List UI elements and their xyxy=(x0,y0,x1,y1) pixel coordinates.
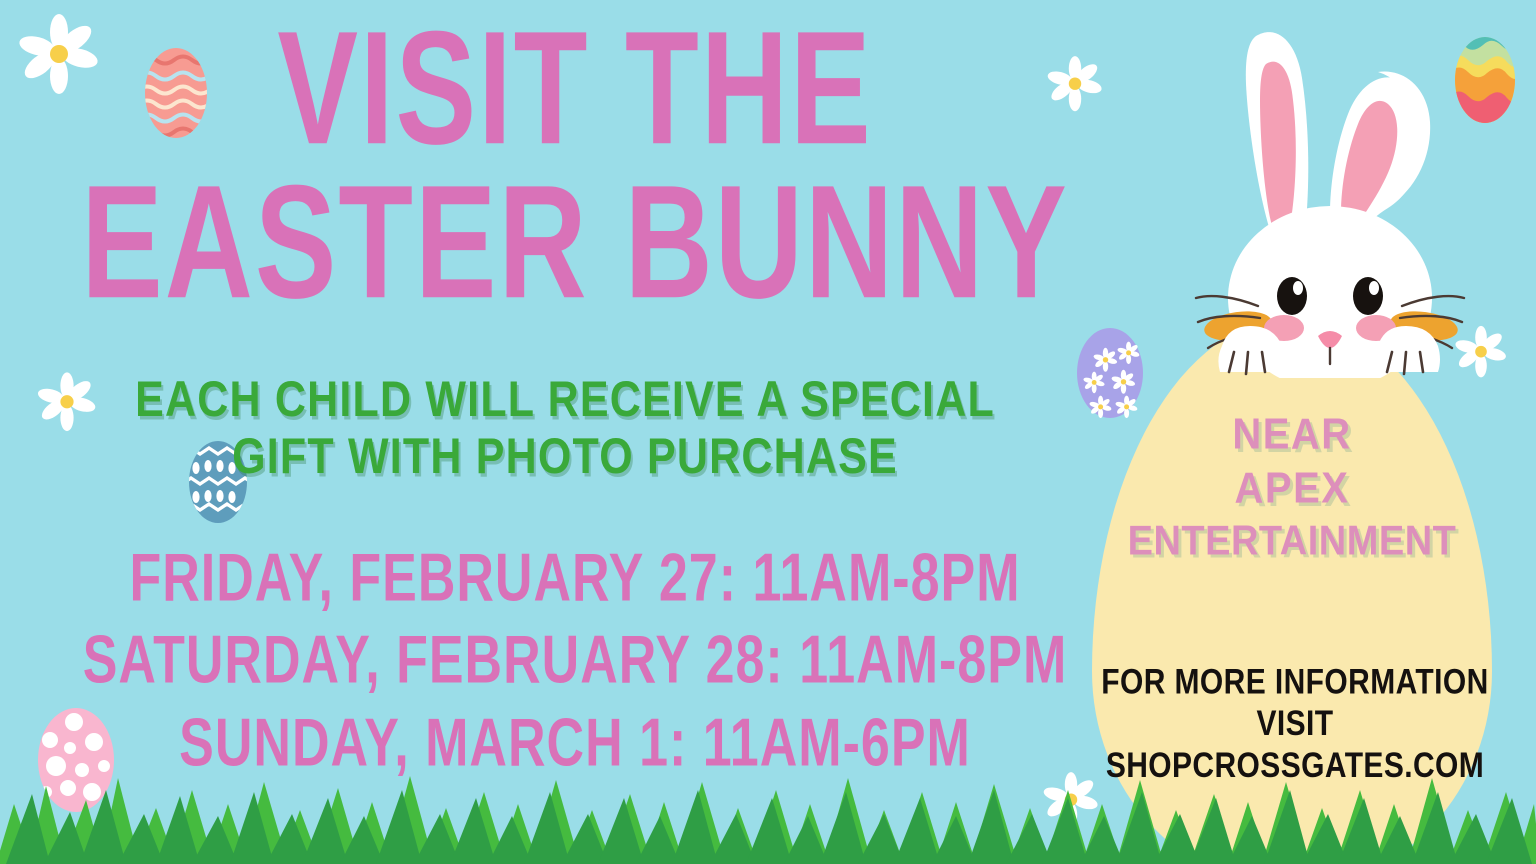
schedule-line-friday: FRIDAY, FEBRUARY 27: 11AM-8PM xyxy=(0,538,1150,620)
footer-line-1: FOR MORE INFORMATION xyxy=(1090,662,1500,704)
grass-border xyxy=(0,764,1536,864)
easter-bunny-poster: VISIT THE EASTER BUNNY EACH CHILD WILL R… xyxy=(0,0,1536,864)
subtitle-line-1: EACH CHILD WILL RECEIVE A SPECIAL xyxy=(135,372,995,428)
schedule-line-saturday: SATURDAY, FEBRUARY 28: 11AM-8PM xyxy=(0,620,1150,702)
daisy-flower-icon xyxy=(1452,322,1510,380)
schedule-list: FRIDAY, FEBRUARY 27: 11AM-8PM SATURDAY, … xyxy=(0,538,1150,785)
location-heading: NEAR APEX ENTERTAINMENT xyxy=(1092,408,1492,566)
bunny-ear-right xyxy=(1330,71,1430,254)
headline-line-2: EASTER BUNNY xyxy=(17,168,1133,316)
location-line-2: APEX xyxy=(1092,462,1492,516)
easter-bunny-illustration xyxy=(1180,8,1480,378)
location-line-3: ENTERTAINMENT xyxy=(1092,515,1492,566)
location-line-1: NEAR xyxy=(1092,408,1492,462)
page-title: VISIT THE EASTER BUNNY xyxy=(0,14,1150,284)
bunny-cheek-right xyxy=(1356,315,1396,341)
subtitle-line-2: GIFT WITH PHOTO PURCHASE xyxy=(232,429,898,485)
offer-subtitle: EACH CHILD WILL RECEIVE A SPECIAL GIFT W… xyxy=(0,372,1130,486)
bunny-accent-right xyxy=(1388,307,1459,344)
bunny-ear-left xyxy=(1246,32,1308,259)
decorative-egg-rainbow-bands xyxy=(1448,28,1522,128)
headline-line-1: VISIT THE xyxy=(23,14,1127,162)
bunny-eyes xyxy=(1277,277,1383,315)
